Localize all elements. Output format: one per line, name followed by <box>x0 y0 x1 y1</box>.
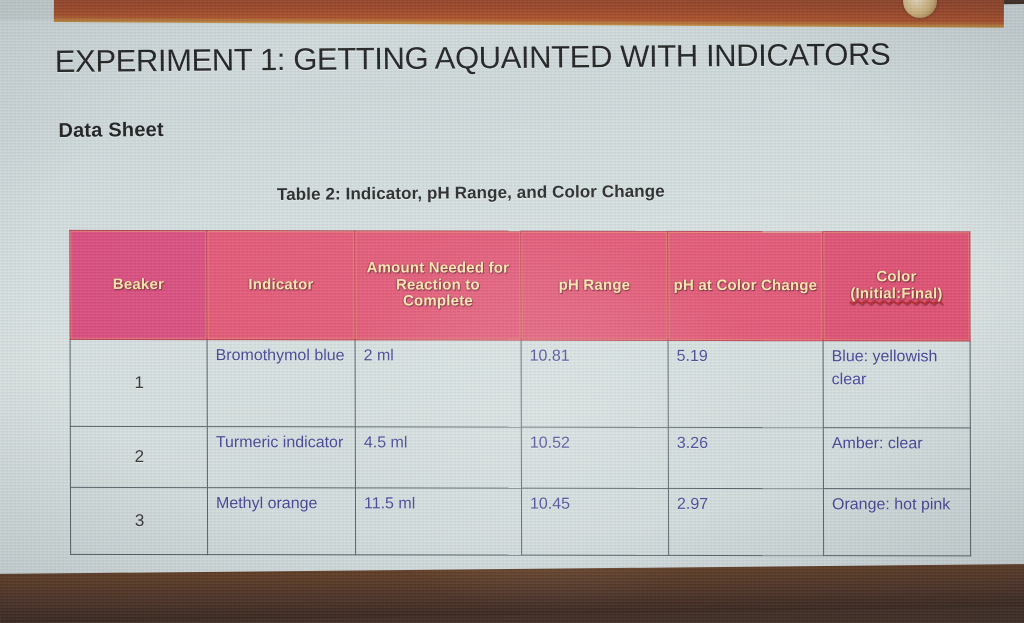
cell-beaker: 1 <box>70 339 207 426</box>
page-title: EXPERIMENT 1: GETTING AQUAINTED WITH IND… <box>55 37 891 80</box>
table-row: 3 Methyl orange 11.5 ml 10.45 2.97 Orang… <box>70 487 970 556</box>
cell-indicator: Bromothymol blue <box>207 340 355 427</box>
column-header-beaker: Beaker <box>70 230 207 339</box>
section-heading-data-sheet: Data Sheet <box>58 119 164 143</box>
column-header-indicator: Indicator <box>207 231 355 340</box>
data-table-container: Beaker Indicator Amount Needed for React… <box>69 230 970 557</box>
table-row: 1 Bromothymol blue 2 ml 10.81 5.19 Blue:… <box>70 339 970 428</box>
cell-color: Orange: hot pink <box>823 489 970 556</box>
cell-amount: 11.5 ml <box>355 488 521 555</box>
cell-amount: 2 ml <box>355 340 521 427</box>
column-header-color-line1: Color <box>876 268 916 285</box>
cell-ph-at-change: 2.97 <box>668 488 823 555</box>
column-header-color-line2: (Initial:Final) <box>850 285 942 302</box>
column-header-ph-at-color-change: pH at Color Change <box>668 231 823 340</box>
table-header-row: Beaker Indicator Amount Needed for React… <box>70 230 970 341</box>
table-row: 2 Turmeric indicator 4.5 ml 10.52 3.26 A… <box>70 426 970 489</box>
column-header-amount: Amount Needed for Reaction to Complete <box>355 231 521 340</box>
cell-ph-range: 10.45 <box>521 488 668 555</box>
document-content: EXPERIMENT 1: GETTING AQUAINTED WITH IND… <box>0 0 1024 623</box>
column-header-ph-range: pH Range <box>521 231 668 340</box>
cell-indicator: Turmeric indicator <box>207 427 355 488</box>
cell-ph-range: 10.81 <box>521 340 668 427</box>
cell-ph-at-change: 3.26 <box>668 427 823 488</box>
cell-beaker: 2 <box>70 426 207 487</box>
cell-color: Amber: clear <box>823 428 970 489</box>
cell-ph-at-change: 5.19 <box>668 340 823 427</box>
cell-amount: 4.5 ml <box>355 427 521 488</box>
cell-color: Blue: yellowish clear <box>823 341 970 428</box>
column-header-color: Color (Initial:Final) <box>823 232 970 341</box>
cell-ph-range: 10.52 <box>521 427 668 488</box>
cell-beaker: 3 <box>70 487 207 554</box>
screenshot-root: EXPERIMENT 1: GETTING AQUAINTED WITH IND… <box>0 0 1024 623</box>
table-caption: Table 2: Indicator, pH Range, and Color … <box>277 182 665 205</box>
indicator-data-table: Beaker Indicator Amount Needed for React… <box>69 230 971 557</box>
cell-indicator: Methyl orange <box>207 488 355 555</box>
